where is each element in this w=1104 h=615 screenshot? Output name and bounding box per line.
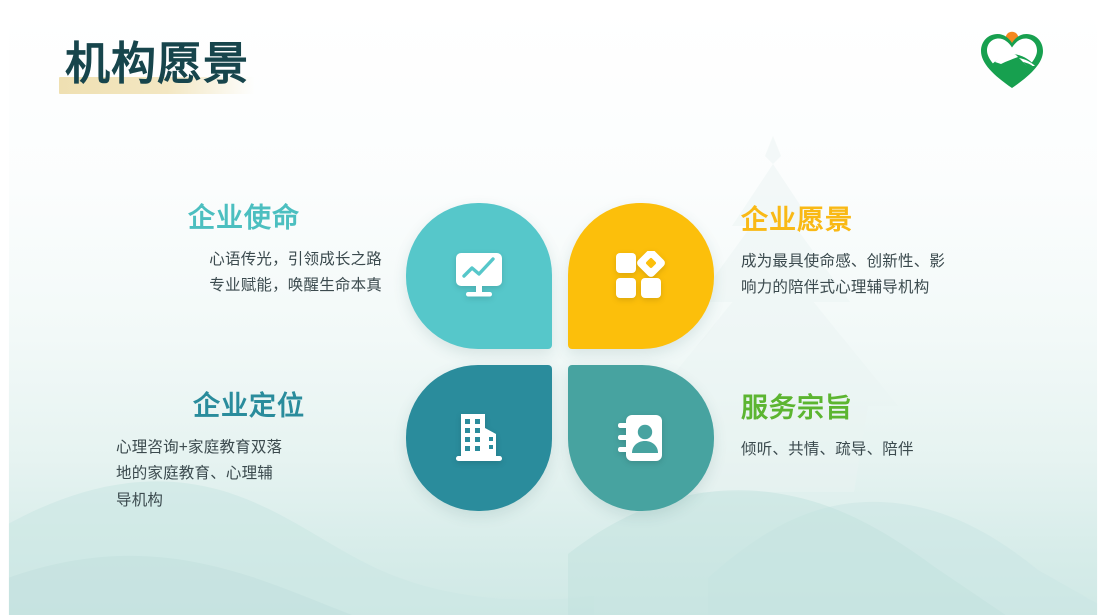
quadrant-position-heading: 企业定位 — [116, 392, 382, 422]
petal-purpose[interactable] — [568, 365, 714, 511]
quadrant-purpose-heading: 服务宗旨 — [741, 394, 1009, 424]
quadrant-purpose-body-line-1: 倾听、共情、疏导、陪伴 — [741, 441, 914, 458]
quadrant-mission-body: 心语传光，引领成长之路 专业赋能，唤醒生命本真 — [112, 247, 382, 300]
quadrant-position-body-line-2: 地的家庭教育、心理辅 — [116, 465, 273, 482]
quadrant-position-body: 心理咨询+家庭教育双落 地的家庭教育、心理辅 导机构 — [116, 435, 382, 515]
quadrant-position: 企业定位 心理咨询+家庭教育双落 地的家庭教育、心理辅 导机构 — [116, 392, 382, 515]
slide-surface: 机构愿景 — [8, 6, 1098, 615]
quadrant-purpose: 服务宗旨 倾听、共情、疏导、陪伴 — [741, 394, 1009, 463]
office-building-icon — [454, 412, 504, 464]
petal-vision[interactable] — [568, 203, 714, 349]
petal-mission[interactable] — [406, 203, 552, 349]
quadrant-position-body-line-1: 心理咨询+家庭教育双落 — [116, 439, 282, 456]
quadrant-vision-heading: 企业愿景 — [741, 206, 1006, 236]
quadrant-vision-body-line-2: 响力的陪伴式心理辅导机构 — [741, 279, 929, 296]
monitor-chart-icon — [452, 251, 506, 301]
blocks-grid-icon — [615, 251, 667, 301]
page-title-block: 机构愿景 — [65, 34, 249, 96]
petal-position[interactable] — [406, 365, 552, 511]
quadrant-purpose-body: 倾听、共情、疏导、陪伴 — [741, 437, 1009, 464]
quadrant-vision-body: 成为最具使命感、创新性、影 响力的陪伴式心理辅导机构 — [741, 249, 1006, 302]
quadrant-vision: 企业愿景 成为最具使命感、创新性、影 响力的陪伴式心理辅导机构 — [741, 206, 1006, 302]
petal-cluster — [406, 203, 714, 511]
quadrant-mission: 企业使命 心语传光，引领成长之路 专业赋能，唤醒生命本真 — [112, 204, 382, 300]
quadrant-mission-body-line-2: 专业赋能，唤醒生命本真 — [209, 277, 382, 294]
quadrant-vision-body-line-1: 成为最具使命感、创新性、影 — [741, 253, 945, 270]
heart-landscape-logo-icon — [979, 29, 1045, 91]
slide-canvas: 机构愿景 — [0, 0, 1104, 615]
quadrant-mission-body-line-1: 心语传光，引领成长之路 — [209, 251, 382, 268]
page-title: 机构愿景 — [65, 34, 249, 94]
quadrant-mission-heading: 企业使命 — [112, 204, 382, 234]
quadrant-position-body-line-3: 导机构 — [116, 492, 163, 509]
address-book-icon — [616, 413, 666, 463]
